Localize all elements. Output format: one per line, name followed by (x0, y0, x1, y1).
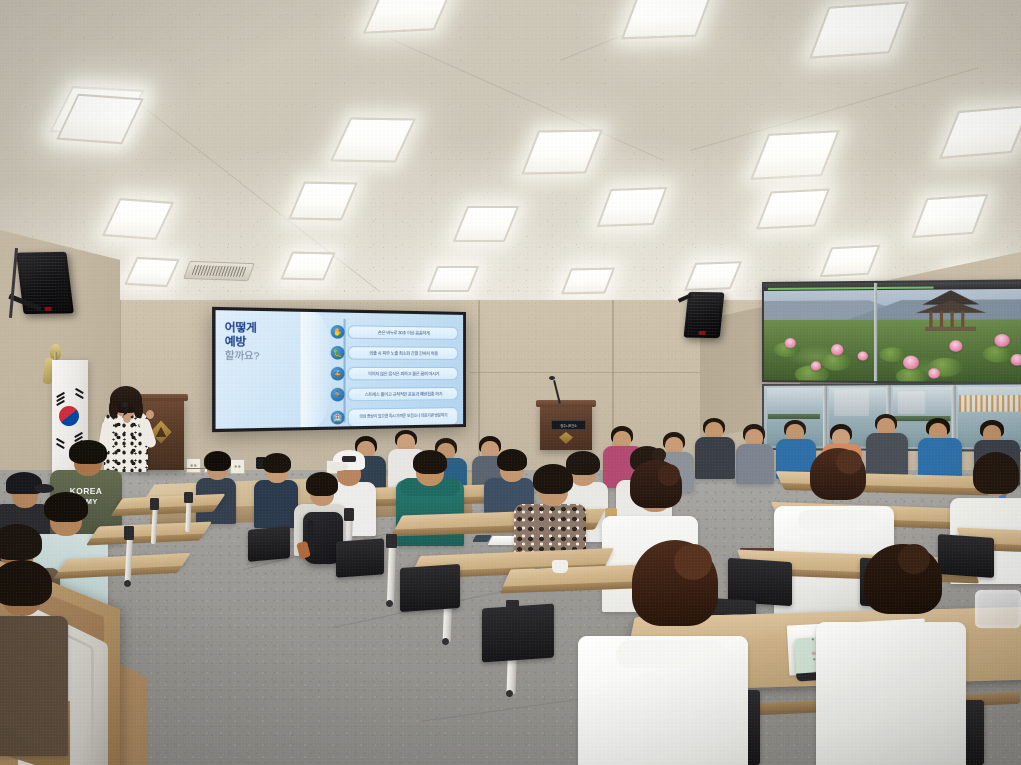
jacket-hood (798, 510, 878, 530)
presenter-hair (109, 400, 118, 418)
slide-bullet-row: 🍲 익히지 않은 음식은 피하고 물은 끓여 마시기 (331, 367, 458, 381)
table-caster (442, 638, 449, 645)
lecture-hall-photo: 어떻게 예방 할까요? ✋ 손은 비누로 30초 이상 꼼꼼하게 🐛 외출 시 … (0, 0, 1021, 765)
korean-pavilion-icon (917, 290, 985, 332)
window-view-foliage (768, 414, 820, 419)
lectern-nameplate: 청주시보건소 (551, 420, 586, 430)
table-leg-joint (386, 534, 397, 548)
chair[interactable] (938, 534, 994, 578)
hospital-icon: 🏥 (331, 411, 345, 425)
exercise-icon: 🏃 (331, 388, 345, 402)
air-vent-icon (183, 261, 255, 281)
chair[interactable] (248, 526, 290, 562)
hand-wash-icon: ✋ (331, 325, 345, 339)
microphone-head (122, 402, 128, 407)
lotus-flower (994, 334, 1009, 347)
table-leg-joint (150, 498, 159, 510)
lotus-flower (950, 340, 963, 351)
lotus-pond-mural (762, 279, 1021, 384)
slide-bullet-text: 손은 비누로 30초 이상 꼼꼼하게 (348, 325, 459, 340)
lotus-flower (785, 338, 796, 348)
lotus-flower (903, 356, 919, 369)
table-leg-joint (184, 492, 193, 503)
slide-title-line3: 할까요? (225, 350, 305, 363)
slide-bullet-row: 🐛 외출 시 피부 노출 최소화 긴팔 긴바지 착용 (331, 346, 458, 361)
window-view-building (898, 391, 925, 414)
table-leg-joint (344, 508, 354, 521)
slide-bullet-text: 의심 증상이 있으면 즉시 가까운 보건소나 의료기관 방문하기 (348, 407, 459, 427)
table-caster (124, 580, 131, 587)
lectern-top-surface (536, 400, 596, 407)
slide-bullet-row: 🏥 의심 증상이 있으면 즉시 가까운 보건소나 의료기관 방문하기 (331, 407, 458, 427)
chair[interactable] (482, 603, 554, 662)
paper-cup[interactable] (552, 560, 568, 573)
lotus-flower (928, 368, 940, 378)
window-view-building (834, 389, 869, 416)
slide-bullet-text: 외출 시 피부 노출 최소화 긴팔 긴바지 착용 (348, 346, 459, 360)
chair[interactable] (400, 564, 460, 612)
presenter-hand (123, 414, 131, 423)
slide-title: 어떻게 예방 할까요? (225, 321, 305, 364)
slide-bullet-row: 🏃 스트레스 줄이고 규칙적인 운동과 예방접종 하기 (331, 387, 458, 402)
projection-screen: 어떻게 예방 할까요? ✋ 손은 비누로 30초 이상 꼼꼼하게 🐛 외출 시 … (212, 307, 466, 432)
lotus-flower (810, 361, 820, 370)
slide-title-line1: 어떻게 (225, 321, 305, 336)
chair[interactable] (336, 538, 384, 577)
slide-wave-decoration (301, 312, 333, 427)
table-caster (506, 690, 513, 697)
cap-logo (342, 456, 356, 462)
presenter-hair (134, 400, 143, 418)
slide-title-line2: 예방 (225, 336, 305, 351)
jacket-hood (616, 640, 726, 668)
mural-mullion (874, 283, 877, 381)
wall-outlet[interactable] (230, 459, 245, 474)
presentation-slide: 어떻게 예방 할까요? ✋ 손은 비누로 30초 이상 꼼꼼하게 🐛 외출 시 … (216, 310, 464, 429)
slide-bullet-row: ✋ 손은 비누로 30초 이상 꼼꼼하게 (331, 325, 458, 340)
food-icon: 🍲 (331, 367, 345, 381)
taeguk-symbol-icon (55, 402, 82, 429)
presenter-hand (146, 410, 154, 419)
podium-top-surface (136, 394, 188, 401)
lotus-flower (831, 344, 843, 355)
microphone-head (549, 376, 555, 380)
wall-speaker-right (684, 292, 725, 338)
lotus-flower (1011, 354, 1021, 366)
lotus-pad (895, 367, 926, 384)
slide-bullet-text: 익히지 않은 음식은 피하고 물은 끓여 마시기 (348, 367, 459, 381)
table-caster (386, 600, 393, 607)
mosquito-icon: 🐛 (331, 346, 345, 360)
window-view-fence (959, 395, 1021, 412)
slide-bullet-text: 스트레스 줄이고 규칙적인 운동과 예방접종 하기 (348, 387, 459, 401)
window-mullion (823, 386, 827, 449)
plastic-bag[interactable] (975, 590, 1021, 628)
wall-seam (470, 372, 720, 373)
table-leg-joint (124, 526, 134, 540)
